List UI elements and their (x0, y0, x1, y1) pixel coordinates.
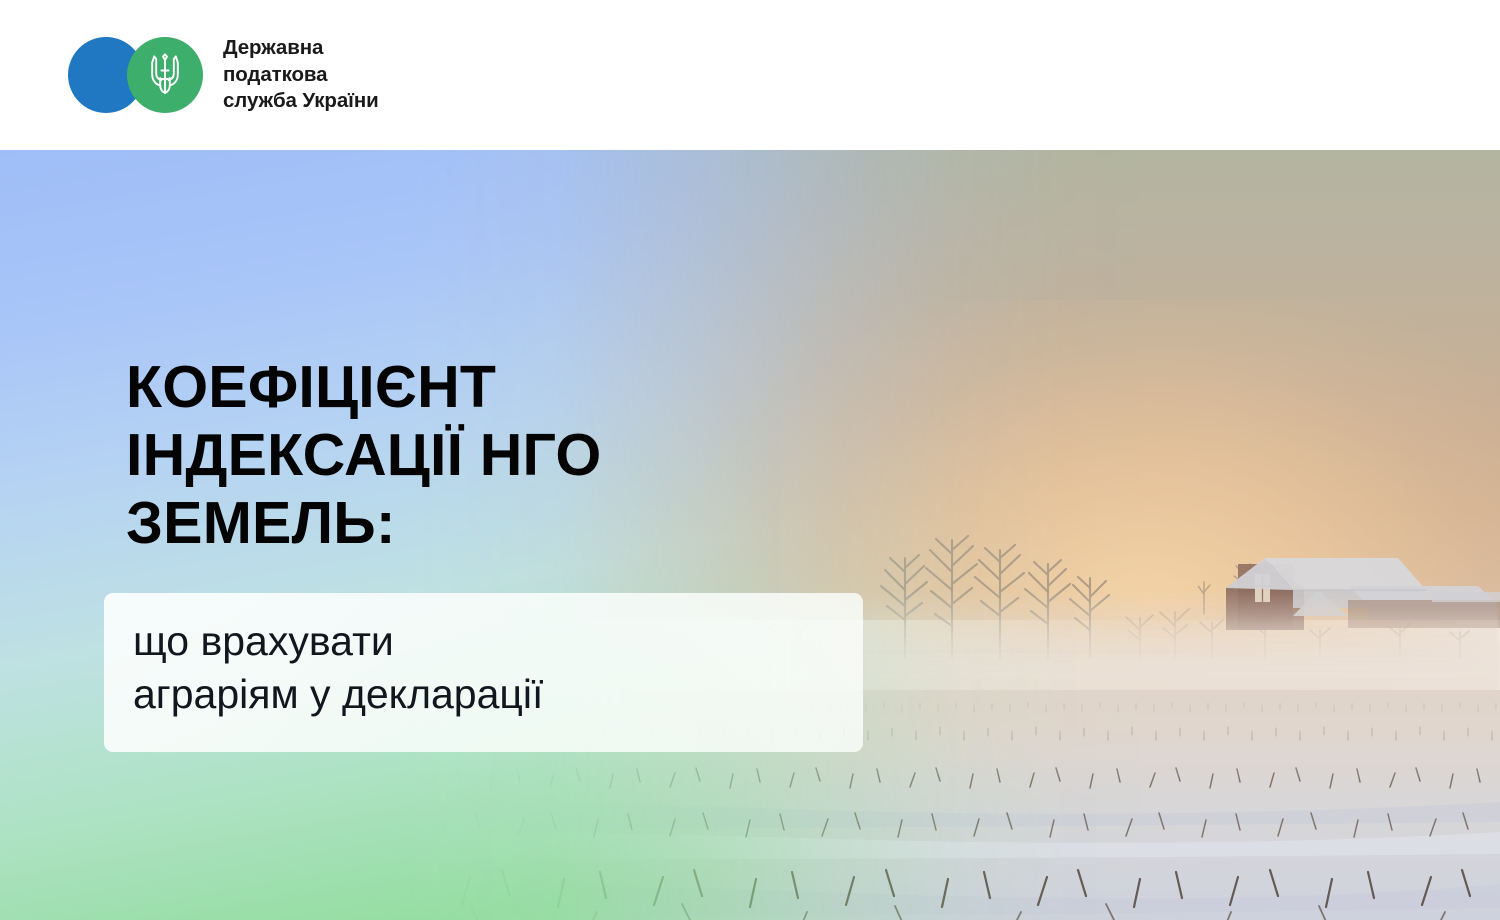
hero-content: КОЕФІЦІЄНТ ІНДЕКСАЦІЇ НГО ЗЕМЕЛЬ: що вра… (0, 150, 1500, 920)
page-subtitle: що врахувати аграріям у декларації (133, 615, 873, 722)
poster-canvas: Державна податкова служба України (0, 0, 1500, 920)
header-bar: Державна податкова служба України (0, 0, 1500, 150)
page-title: КОЕФІЦІЄНТ ІНДЕКСАЦІЇ НГО ЗЕМЕЛЬ: (126, 353, 826, 557)
agency-name: Державна податкова служба України (223, 35, 379, 115)
ukraine-trident-icon (127, 37, 203, 113)
agency-logo (68, 37, 203, 113)
